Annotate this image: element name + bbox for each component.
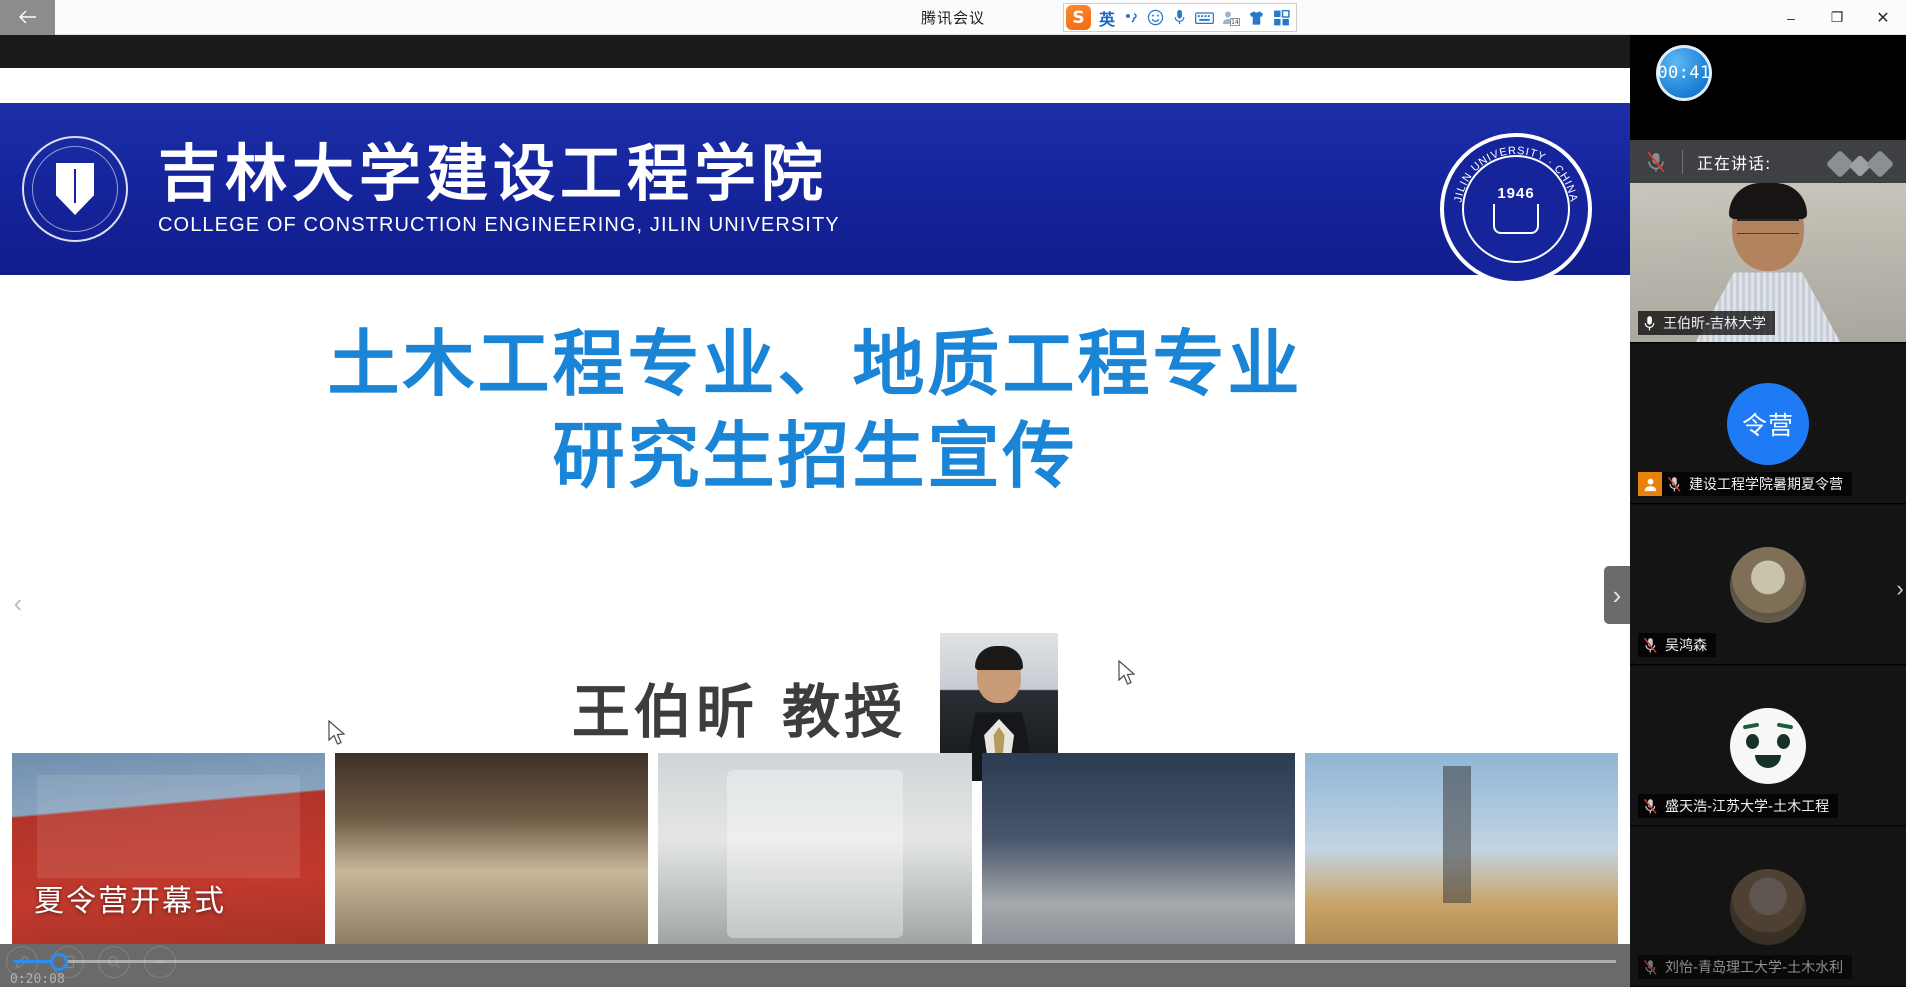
mic-muted-icon-5 — [1643, 959, 1658, 976]
college-name-en: COLLEGE OF CONSTRUCTION ENGINEERING, JIL… — [158, 214, 840, 237]
crest-shield-shape — [56, 163, 94, 215]
host-person-icon — [1643, 477, 1658, 492]
emoji-eye-right — [1777, 734, 1790, 749]
participant-avatar-5 — [1730, 869, 1806, 945]
participant-tile-3[interactable]: 吴鸿森 — [1630, 505, 1906, 665]
emoji-eye-left — [1746, 734, 1759, 749]
speaking-divider — [1682, 150, 1683, 174]
svg-text:14: 14 — [1231, 19, 1239, 26]
playback-current-time: 0:20:08 — [10, 972, 65, 987]
slide-photo-3 — [658, 753, 971, 968]
participant-tile-1[interactable]: 王伯昕-吉林大学 — [1630, 183, 1906, 343]
participant-name-row-5: 刘怡-青岛理工大学-土木水利 — [1638, 955, 1852, 979]
emoji-mouth — [1755, 755, 1781, 768]
ime-mode-button[interactable]: 英 — [1099, 6, 1115, 30]
skin-icon[interactable] — [1248, 10, 1265, 26]
keyboard-icon[interactable] — [1195, 11, 1214, 25]
participant-tile-5[interactable]: 刘怡-青岛理工大学-土木水利 — [1630, 827, 1906, 987]
portrait-hair-shape — [975, 646, 1023, 670]
maximize-button[interactable]: ❐ — [1814, 0, 1860, 35]
participant-name-1: 王伯昕-吉林大学 — [1663, 313, 1766, 333]
participant-name-row-2: 建设工程学院暑期夏令营 — [1662, 472, 1852, 496]
playback-slider-track[interactable] — [14, 960, 1616, 963]
participant-avatar-2: 令营 — [1727, 383, 1809, 465]
slide-photo-5 — [1305, 753, 1618, 968]
college-crest-icon — [22, 136, 128, 242]
window-title-text: 腾讯会议 — [921, 7, 985, 28]
emoji-brow-right — [1777, 722, 1793, 729]
mic-muted-icon-3 — [1643, 637, 1658, 654]
window-title: 腾讯会议 — [0, 0, 1906, 35]
window-controls: – ❐ ✕ — [1768, 0, 1906, 35]
college-name-cn: 吉林大学建设工程学院 — [158, 141, 840, 206]
arrow-left-icon — [19, 10, 37, 24]
host-badge — [1638, 472, 1662, 496]
window-title-bar: 腾讯会议 S 英 — [0, 0, 1906, 35]
stage-top-padding — [0, 35, 1630, 68]
slide-header-banner: 吉林大学建设工程学院 COLLEGE OF CONSTRUCTION ENGIN… — [0, 103, 1630, 275]
seal-inner: 1946 — [1462, 155, 1570, 263]
university-seal-icon: JILIN UNIVERSITY · CHINA 1946 — [1440, 133, 1592, 285]
participant-name-4: 盛天浩-江苏大学-土木工程 — [1665, 796, 1829, 816]
video-glasses-shape — [1737, 219, 1799, 234]
mic-on-icon — [1643, 315, 1656, 332]
presenter-name: 王伯昕 教授 — [572, 665, 906, 749]
video-hair-shape — [1729, 183, 1807, 219]
mic-muted-icon — [1630, 140, 1682, 183]
seal-year: 1946 — [1497, 185, 1534, 202]
seal-emblem-shape — [1493, 204, 1539, 234]
slide-photo-4 — [982, 753, 1295, 968]
participant-name-3: 吴鸿森 — [1665, 635, 1707, 655]
meeting-timer: 00:41 — [1656, 45, 1712, 101]
microphone-icon[interactable] — [1172, 9, 1187, 26]
minimize-button[interactable]: – — [1768, 0, 1814, 35]
mic-muted-icon-4 — [1643, 798, 1658, 815]
participant-name-row-4: 盛天浩-江苏大学-土木工程 — [1638, 794, 1838, 818]
participant-tile-2[interactable]: 令营 建设工程学院暑期夏令营 — [1630, 344, 1906, 504]
slide-title-line2: 研究生招生宣传 — [0, 410, 1630, 502]
sogou-logo-icon[interactable]: S — [1066, 5, 1091, 30]
ime-toolbar[interactable]: S 英 — [1063, 3, 1297, 32]
toolbox-icon[interactable] — [1273, 10, 1290, 26]
playback-slider-handle[interactable] — [50, 953, 68, 971]
back-button[interactable] — [0, 0, 55, 35]
slide-photo-2 — [335, 753, 648, 968]
rail-top-area: 00:41 — [1630, 35, 1906, 140]
emoji-brow-left — [1743, 722, 1759, 729]
participant-avatar-3 — [1730, 547, 1806, 623]
presentation-control-bar: 0:20:08 — [0, 944, 1630, 987]
close-button[interactable]: ✕ — [1860, 0, 1906, 35]
participant-avatar-4 — [1730, 708, 1806, 784]
mic-muted-icon-2 — [1667, 476, 1682, 493]
rail-collapse-button[interactable]: › — [1894, 569, 1906, 609]
tencent-meeting-watermark-icon — [1830, 150, 1892, 174]
slide-prev-button[interactable]: ‹ — [6, 573, 30, 633]
participant-name-5: 刘怡-青岛理工大学-土木水利 — [1665, 957, 1843, 977]
emoji-icon[interactable] — [1147, 9, 1164, 26]
speaking-label: 正在讲话: — [1697, 150, 1771, 174]
slide-header-text: 吉林大学建设工程学院 COLLEGE OF CONSTRUCTION ENGIN… — [158, 141, 840, 237]
user-count-icon[interactable]: 14 — [1222, 10, 1240, 26]
participant-rail: 00:41 正在讲话: — [1630, 35, 1906, 987]
participant-name-row-3: 吴鸿森 — [1638, 633, 1716, 657]
slide-title: 土木工程专业、地质工程专业 研究生招生宣传 — [0, 318, 1630, 502]
participant-tile-4[interactable]: 盛天浩-江苏大学-土木工程 — [1630, 666, 1906, 826]
speaking-indicator-bar: 正在讲话: — [1630, 140, 1906, 183]
slide-photo-1: 夏令营开幕式 — [12, 753, 325, 968]
presentation-slide: 吉林大学建设工程学院 COLLEGE OF CONSTRUCTION ENGIN… — [0, 68, 1630, 978]
slide-title-line1: 土木工程专业、地质工程专业 — [0, 318, 1630, 410]
film-caption: 夏令营开幕式 — [34, 876, 226, 920]
participant-name-row-1: 王伯昕-吉林大学 — [1638, 311, 1775, 335]
participant-name-2: 建设工程学院暑期夏令营 — [1689, 474, 1843, 494]
punctuation-icon[interactable] — [1123, 10, 1139, 26]
slide-next-button[interactable]: › — [1604, 566, 1630, 624]
shared-screen-stage: 吉林大学建设工程学院 COLLEGE OF CONSTRUCTION ENGIN… — [0, 35, 1630, 987]
